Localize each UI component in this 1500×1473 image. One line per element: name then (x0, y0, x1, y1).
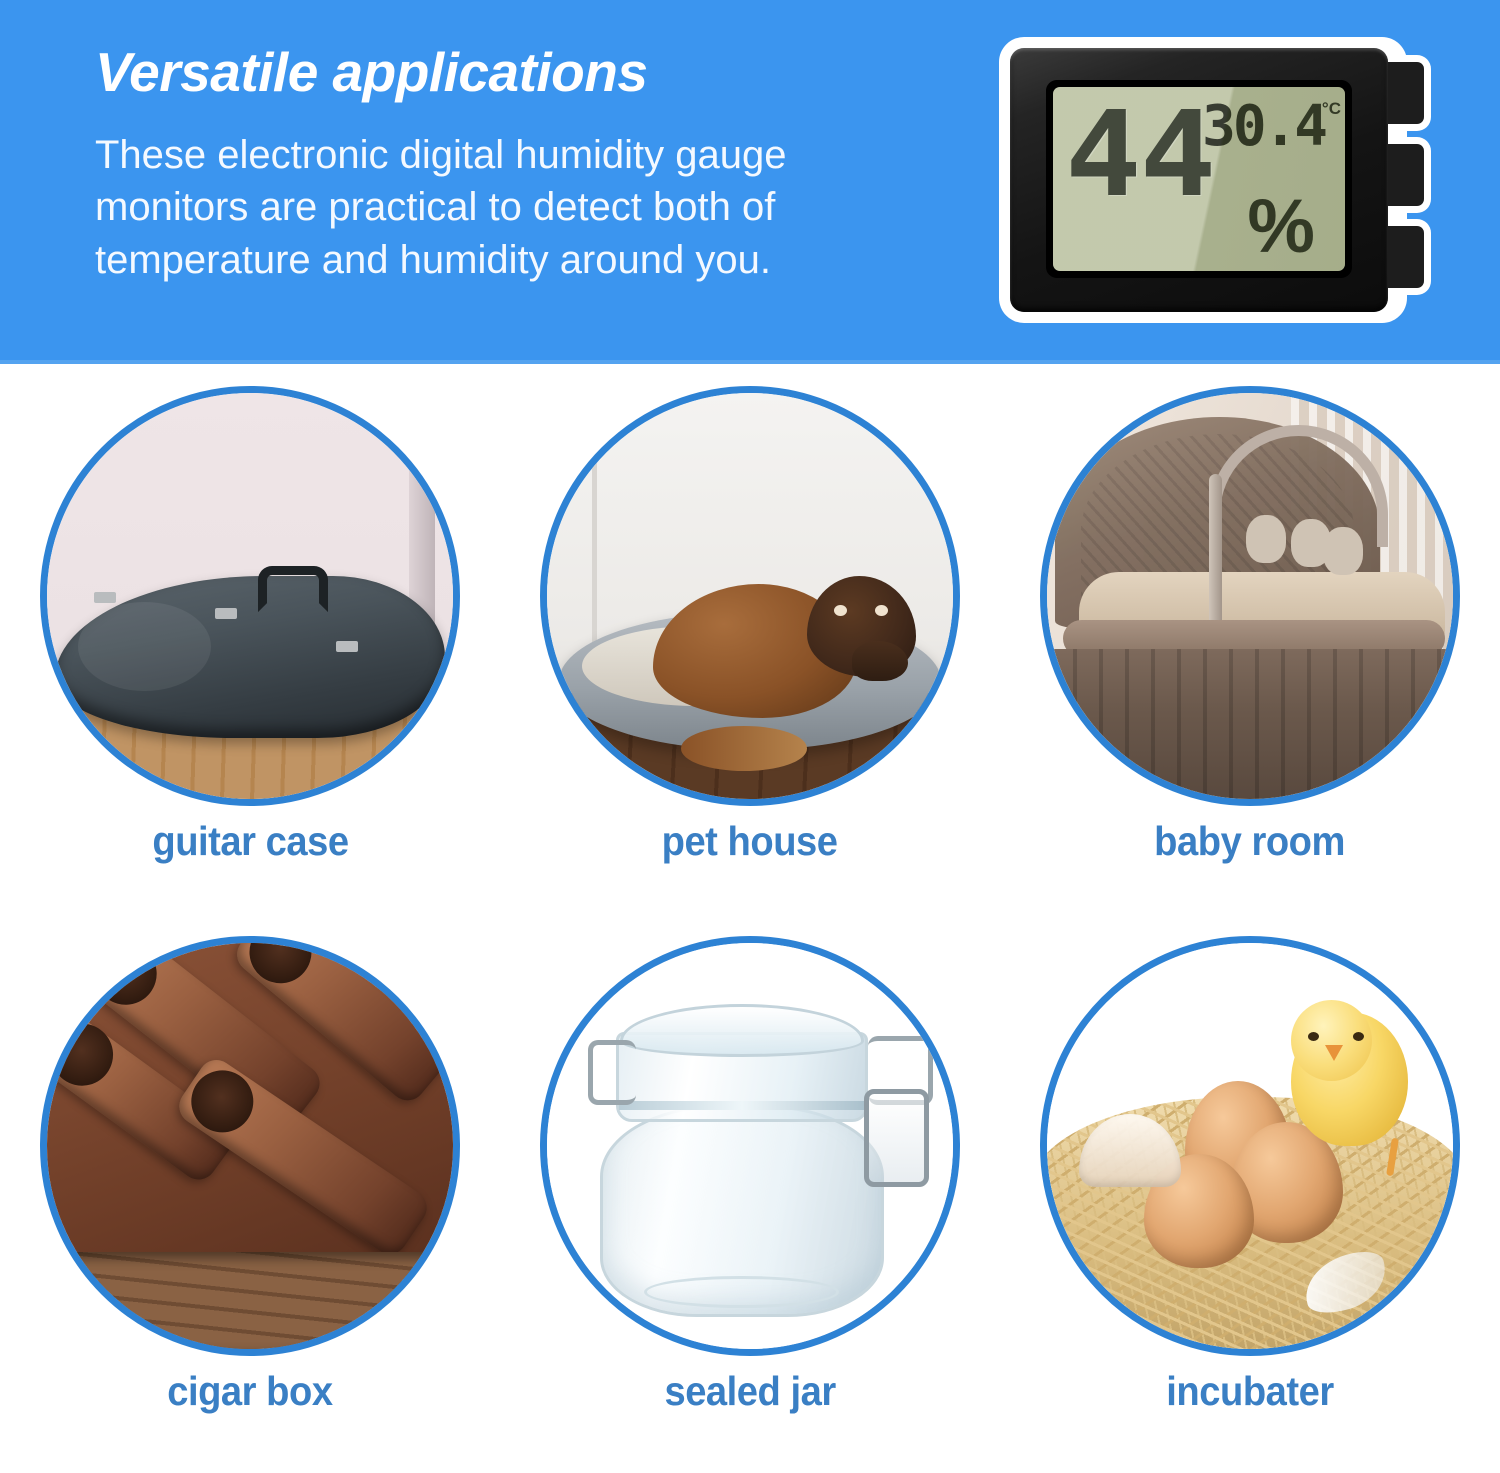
photo-circle (540, 386, 960, 806)
header-description: These electronic digital humidity gauge … (95, 129, 935, 287)
lcd-screen: 44 30.4 °C % (1053, 87, 1345, 271)
application-cell-guitar-case: guitar case (0, 372, 500, 922)
caption-cigar-box: cigar box (167, 1368, 332, 1415)
pet-house-photo (547, 393, 953, 799)
circle-holder (540, 936, 960, 1366)
circle-holder (40, 386, 460, 816)
case-latch (94, 592, 116, 603)
bassinet-skirt (1047, 649, 1453, 799)
device-screen-bezel: 44 30.4 °C % (1046, 80, 1352, 278)
incubator-photo (1047, 943, 1453, 1349)
caption-incubator: incubater (1166, 1368, 1333, 1415)
caption-pet-house: pet house (662, 818, 838, 865)
caption-sealed-jar: sealed jar (664, 1368, 835, 1415)
lcd-temperature-unit: °C (1322, 100, 1341, 117)
jar-bail-wire-left (588, 1040, 637, 1105)
case-latch (336, 641, 358, 652)
mobile-post (1209, 474, 1222, 645)
application-cell-cigar-box: cigar box (0, 922, 500, 1472)
guitar-case-shape (55, 576, 445, 738)
lcd-temperature-reading: 30.4 (1202, 99, 1325, 155)
circle-holder (1040, 936, 1460, 1366)
application-grid: guitar case (0, 372, 1500, 1473)
case-handle (258, 566, 328, 612)
baby-room-photo (1047, 393, 1453, 799)
circle-holder (40, 936, 460, 1366)
wall-corner (592, 393, 597, 677)
plush-toy (1323, 527, 1363, 575)
lcd-percent-symbol: % (1247, 189, 1315, 265)
caption-baby-room: baby room (1155, 818, 1346, 865)
photo-circle (40, 386, 460, 806)
caption-guitar-case: guitar case (152, 818, 348, 865)
jar-clamp (864, 1089, 929, 1186)
sealed-jar-photo (547, 943, 953, 1349)
photo-circle (1040, 936, 1460, 1356)
photo-circle (40, 936, 460, 1356)
application-cell-sealed-jar: sealed jar (500, 922, 1000, 1472)
lcd-humidity-reading: 44 (1065, 95, 1214, 213)
photo-circle (540, 936, 960, 1356)
application-cell-pet-house: pet house (500, 372, 1000, 922)
application-cell-baby-room: baby room (1000, 372, 1500, 922)
cigar-box-photo (47, 943, 453, 1349)
infographic-page: Versatile applications These electronic … (0, 0, 1500, 1473)
device-illustration: 44 30.4 °C % (1000, 38, 1430, 323)
photo-circle (1040, 386, 1460, 806)
circle-holder (540, 386, 960, 816)
header-text-block: Versatile applications These electronic … (95, 42, 935, 287)
case-latch (215, 608, 237, 619)
circle-holder (1040, 386, 1460, 816)
guitar-case-photo (47, 393, 453, 799)
page-title: Versatile applications (95, 42, 935, 103)
plush-toy (1246, 515, 1286, 563)
device-housing: 44 30.4 °C % (1010, 48, 1388, 312)
dog-tail (681, 726, 807, 771)
jar-lid (620, 1004, 864, 1057)
wooden-crate (47, 1252, 453, 1349)
chick-beak (1325, 1045, 1343, 1061)
application-cell-incubator: incubater (1000, 922, 1500, 1472)
